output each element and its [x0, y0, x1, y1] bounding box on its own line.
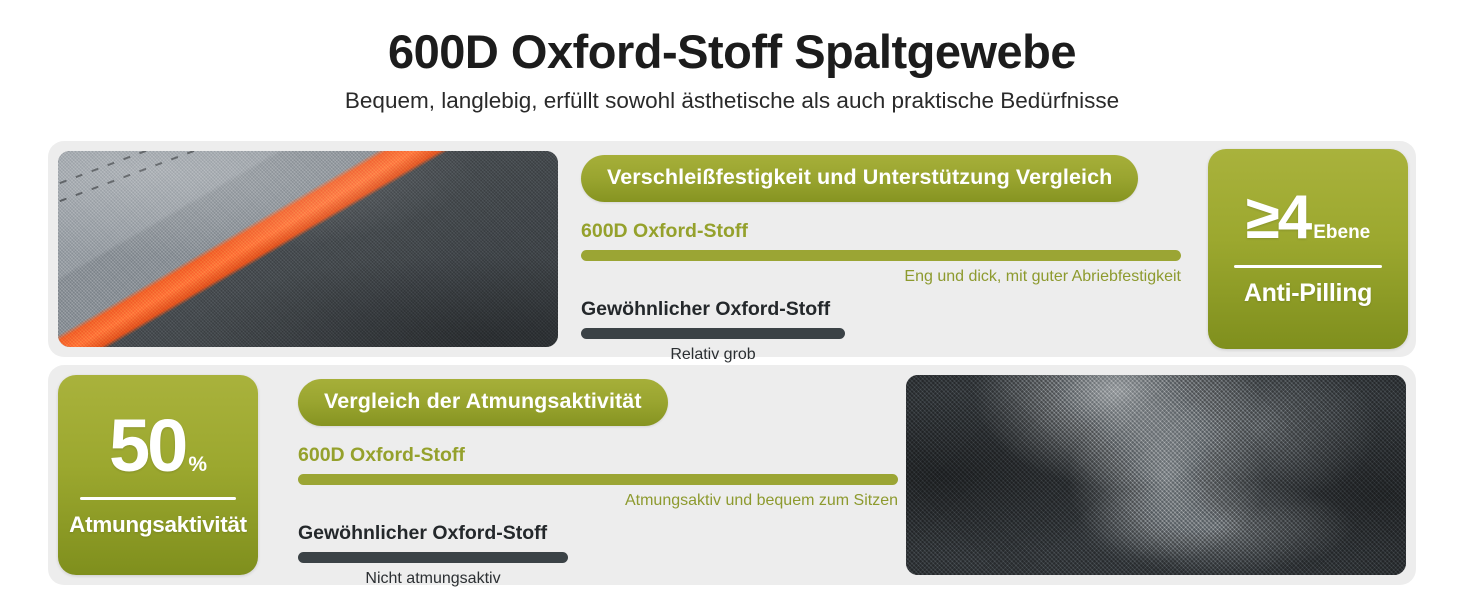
oxford-weave-photo: [58, 151, 558, 347]
anti-pilling-value: ≥4: [1246, 187, 1311, 249]
breathability-figure: 50 %: [58, 375, 258, 483]
breathability-unit: %: [188, 454, 207, 475]
anti-pilling-unit: Ebene: [1313, 223, 1370, 242]
breathability-comparison-pill-label: Vergleich der Atmungsaktivität: [298, 379, 668, 426]
panel-wear-resistance: Verschleißfestigkeit und Unterstützung V…: [48, 141, 1416, 357]
breathability-comparison: Vergleich der Atmungsaktivität 600D Oxfo…: [298, 379, 898, 590]
wear-bar-caption-600d: Eng und dick, mit guter Abriebfestigkeit: [581, 267, 1181, 288]
breath-bar-caption-ordinary: Nicht atmungsaktiv: [298, 569, 568, 590]
wear-bar-track-600d: [581, 250, 1181, 261]
header: 600D Oxford-Stoff Spaltgewebe Bequem, la…: [0, 0, 1464, 114]
wear-bar-group-ordinary: Gewöhnlicher Oxford-Stoff Relativ grob: [581, 297, 1181, 366]
mesh-vignette-overlay: [906, 375, 1406, 575]
anti-pilling-badge: ≥4 Ebene Anti-Pilling: [1208, 149, 1408, 349]
wear-bar-fill-600d: [581, 250, 1181, 261]
anti-pilling-divider: [1234, 265, 1382, 268]
breath-bar-label-600d: 600D Oxford-Stoff: [298, 443, 898, 467]
breath-bar-fill-ordinary: [298, 552, 568, 563]
anti-pilling-figure: ≥4 Ebene: [1208, 149, 1408, 249]
breath-bar-caption-600d: Atmungsaktiv und bequem zum Sitzen: [298, 491, 898, 512]
wear-bar-group-600d: 600D Oxford-Stoff Eng und dick, mit gute…: [581, 219, 1181, 288]
infographic-page: 600D Oxford-Stoff Spaltgewebe Bequem, la…: [0, 0, 1464, 600]
breath-bar-group-600d: 600D Oxford-Stoff Atmungsaktiv und beque…: [298, 443, 898, 512]
wear-caption-wrap-ordinary: Relativ grob: [581, 345, 845, 366]
breathable-mesh-photo: [906, 375, 1406, 575]
wear-comparison-pill-label: Verschleißfestigkeit und Unterstützung V…: [581, 155, 1138, 202]
page-subtitle: Bequem, langlebig, erfüllt sowohl ästhet…: [0, 87, 1464, 114]
wear-bar-label-ordinary: Gewöhnlicher Oxford-Stoff: [581, 297, 1181, 321]
breath-bar-label-ordinary: Gewöhnlicher Oxford-Stoff: [298, 521, 898, 545]
breathability-caption: Atmungsaktivität: [58, 512, 258, 538]
breathability-badge: 50 % Atmungsaktivität: [58, 375, 258, 575]
anti-pilling-caption: Anti-Pilling: [1208, 279, 1408, 308]
breath-bar-track-ordinary: [298, 552, 898, 563]
wear-resistance-comparison: Verschleißfestigkeit und Unterstützung V…: [581, 155, 1181, 366]
wear-bar-label-600d: 600D Oxford-Stoff: [581, 219, 1181, 243]
wear-bar-track-ordinary: [581, 328, 1181, 339]
breath-bar-track-600d: [298, 474, 898, 485]
breathability-divider: [80, 497, 236, 500]
wear-bar-caption-ordinary: Relativ grob: [581, 345, 845, 366]
breath-caption-wrap-ordinary: Nicht atmungsaktiv: [298, 569, 568, 590]
wear-bar-fill-ordinary: [581, 328, 845, 339]
breathability-value: 50: [109, 409, 185, 483]
panel-breathability: 50 % Atmungsaktivität Vergleich der Atmu…: [48, 365, 1416, 585]
breath-bar-fill-600d: [298, 474, 898, 485]
page-title: 600D Oxford-Stoff Spaltgewebe: [0, 26, 1464, 79]
weave-sheen-overlay: [58, 151, 558, 347]
breath-bar-group-ordinary: Gewöhnlicher Oxford-Stoff Nicht atmungsa…: [298, 521, 898, 590]
